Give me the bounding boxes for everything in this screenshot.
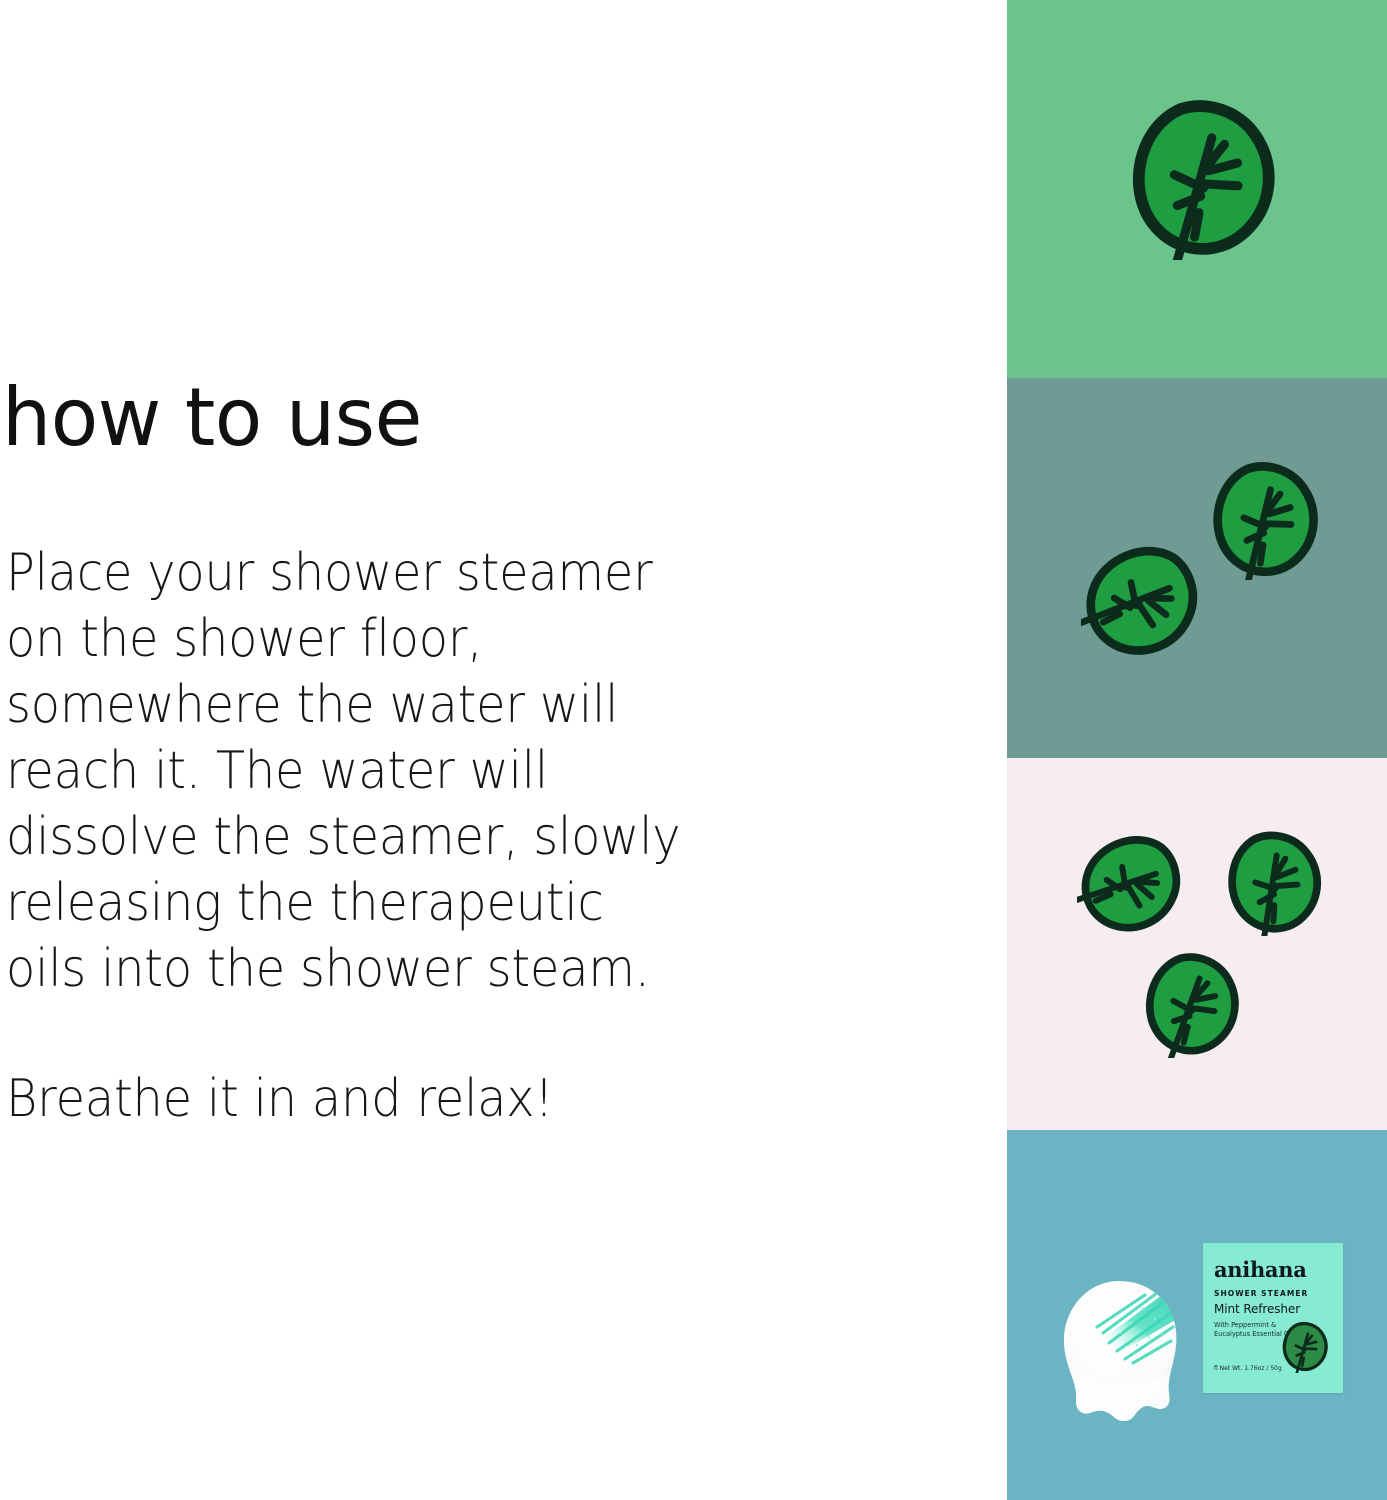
page-title: how to use [2, 378, 422, 458]
brand-logo: anihana [1214, 1259, 1334, 1281]
instructions-body: Place your shower steamer on the shower … [6, 540, 876, 1132]
mint-leaf-icon [1081, 538, 1205, 662]
instructions-line: releasing the therapeutic [6, 870, 806, 936]
mint-leaf-icon [1203, 456, 1327, 580]
mint-leaf-icon [1137, 948, 1247, 1058]
gallery-panel-mint-leaf-pair[interactable] [1007, 378, 1387, 758]
product-net-weight: fl Net Wt. 1.76oz / 50g [1214, 1365, 1282, 1374]
instructions-line: Place your shower steamer [6, 540, 806, 606]
instructions-line: reach it. The water will [6, 738, 806, 804]
mint-leaf-icon [1077, 828, 1187, 938]
instructions-line: dissolve the steamer, slowly [6, 804, 806, 870]
shower-steamer-product [1045, 1275, 1195, 1435]
product-category-label: SHOWER STEAMER [1214, 1289, 1334, 1298]
product-variant-label: Mint Refresher [1214, 1302, 1334, 1316]
product-detail-page: how to use Place your shower steamer on … [0, 0, 1387, 1500]
instructions-paragraph-1: Place your shower steamer on the shower … [6, 540, 806, 1002]
mint-leaf-icon [1219, 826, 1329, 936]
paragraph-spacer [6, 1002, 876, 1066]
instructions-column: how to use Place your shower steamer on … [0, 0, 1007, 1500]
instructions-line: oils into the shower steam. [6, 936, 806, 1002]
mint-leaf-icon [1119, 92, 1287, 260]
instructions-line: on the shower floor, [6, 606, 806, 672]
gallery-panel-product-photo[interactable]: anihana SHOWER STEAMER Mint Refresher Wi… [1007, 1130, 1387, 1500]
instructions-paragraph-2: Breathe it in and relax! [6, 1066, 806, 1132]
mint-leaf-icon [1278, 1319, 1332, 1373]
image-gallery-column: anihana SHOWER STEAMER Mint Refresher Wi… [1007, 0, 1387, 1500]
product-box: anihana SHOWER STEAMER Mint Refresher Wi… [1203, 1243, 1343, 1393]
instructions-line: somewhere the water will [6, 672, 806, 738]
gallery-panel-mint-leaf-trio[interactable] [1007, 758, 1387, 1130]
gallery-panel-mint-leaf-single[interactable] [1007, 0, 1387, 378]
